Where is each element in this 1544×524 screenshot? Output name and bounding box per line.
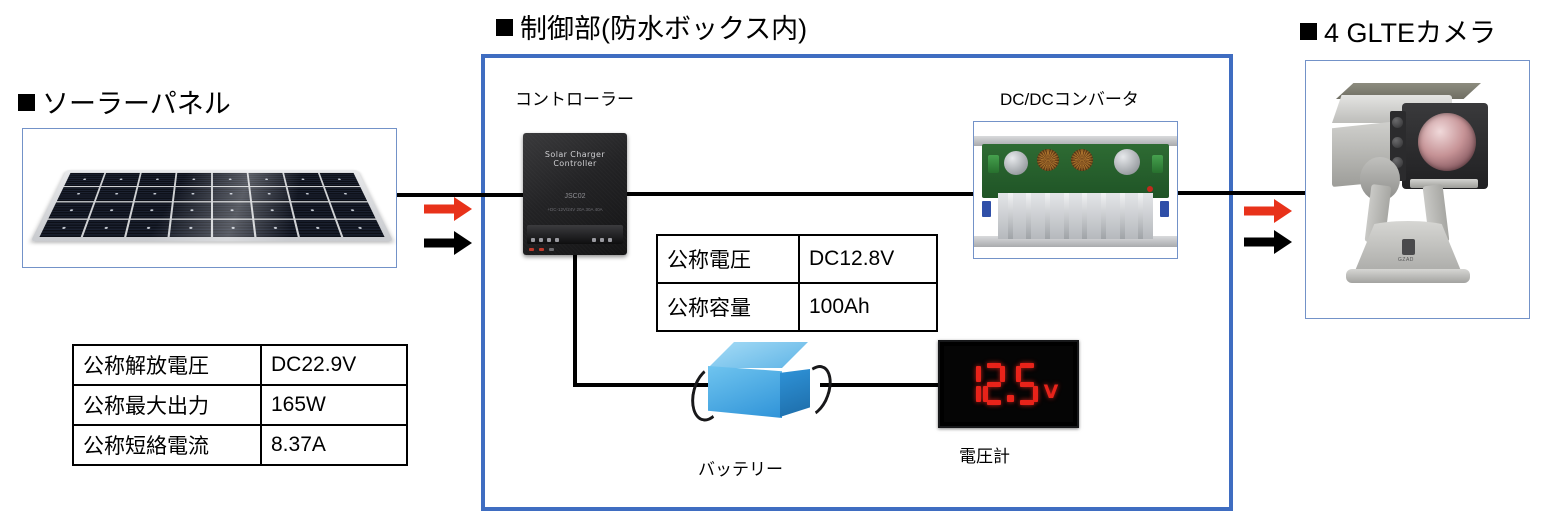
battery-spec-key: 公称容量 xyxy=(657,283,799,331)
battery-spec-key: 公称電圧 xyxy=(657,235,799,283)
controller-terminal-block-left xyxy=(531,238,559,242)
table-row: 公称電圧 DC12.8V xyxy=(657,235,937,283)
battery-spec-value: 100Ah xyxy=(799,283,937,331)
section-heading-control-label: 制御部(防水ボックス内) xyxy=(520,14,807,44)
table-row: 公称最大出力 165W xyxy=(73,385,407,425)
solar-panel-illustration xyxy=(47,137,377,257)
solar-panel-image-frame xyxy=(22,128,397,268)
solar-spec-table: 公称解放電圧 DC22.9V 公称最大出力 165W 公称短絡電流 8.37A xyxy=(72,344,408,466)
diagram-canvas: ソーラーパネル 制御部(防水ボックス内) 4 GLTEカメラ xyxy=(0,0,1544,524)
camera-image-frame: GZAD xyxy=(1305,60,1530,319)
battery-label: バッテリー xyxy=(698,455,783,480)
converter-heatsink xyxy=(998,193,1152,239)
voltmeter-digit xyxy=(983,363,1005,405)
table-row: 公称短絡電流 8.37A xyxy=(73,425,407,465)
solar-spec-value: 165W xyxy=(261,385,407,425)
solar-spec-value: 8.37A xyxy=(261,425,407,465)
bullet-square-icon xyxy=(496,19,513,36)
wire-battery-to-voltmeter xyxy=(820,383,945,387)
section-heading-control: 制御部(防水ボックス内) xyxy=(496,7,807,46)
voltmeter-digit xyxy=(959,363,981,405)
solar-spec-key: 公称最大出力 xyxy=(73,385,261,425)
section-heading-camera-label: 4 GLTEカメラ xyxy=(1324,18,1496,48)
ptz-camera-device: GZAD xyxy=(1306,61,1529,318)
wire-controller-to-converter xyxy=(626,192,986,196)
solar-spec-key: 公称短絡電流 xyxy=(73,425,261,465)
charge-controller-device: Solar Charger Controller JSC02 +DC-12V/2… xyxy=(523,133,627,255)
converter-image-frame xyxy=(973,121,1178,259)
bullet-square-icon xyxy=(1300,23,1317,40)
wire-converter-to-camera xyxy=(1168,191,1316,195)
power-flow-black-arrow-right xyxy=(1244,229,1292,255)
section-heading-camera: 4 GLTEカメラ xyxy=(1300,11,1496,50)
camera-brand-text: GZAD xyxy=(1398,257,1414,263)
power-flow-black-arrow-left xyxy=(424,230,472,256)
wire-controller-down xyxy=(573,252,577,387)
camera-brand-logo-icon xyxy=(1402,239,1415,255)
controller-brand-text: Solar Charger Controller xyxy=(523,150,627,168)
voltmeter-label: 電圧計 xyxy=(959,442,1010,467)
controller-led-row xyxy=(529,248,554,251)
bullet-square-icon xyxy=(18,94,35,111)
table-row: 公称容量 100Ah xyxy=(657,283,937,331)
converter-label: DC/DCコンバータ xyxy=(1000,85,1139,110)
controller-model-text: JSC02 xyxy=(523,193,627,200)
voltmeter-unit-label: V xyxy=(1044,381,1059,403)
table-row: 公称解放電圧 DC22.9V xyxy=(73,345,407,385)
solar-spec-key: 公称解放電圧 xyxy=(73,345,261,385)
section-heading-solar: ソーラーパネル xyxy=(18,82,231,121)
section-heading-solar-label: ソーラーパネル xyxy=(42,89,231,119)
battery-spec-table: 公称電圧 DC12.8V 公称容量 100Ah xyxy=(656,234,938,332)
controller-spec-text: +DC-12V/24V 20A 30A 40A xyxy=(523,207,627,212)
controller-terminal-block-right xyxy=(592,238,612,242)
solar-spec-value: DC22.9V xyxy=(261,345,407,385)
voltmeter-digit xyxy=(1016,363,1038,405)
battery-pack-device xyxy=(690,342,828,430)
controller-label: コントローラー xyxy=(515,85,634,110)
battery-spec-value: DC12.8V xyxy=(799,235,937,283)
power-flow-red-arrow-left xyxy=(424,196,472,222)
dcdc-converter-device xyxy=(974,122,1177,258)
voltmeter-decimal-point xyxy=(1007,395,1014,402)
power-flow-red-arrow-right xyxy=(1244,198,1292,224)
voltmeter-seven-segment-display: V xyxy=(940,363,1077,405)
voltmeter-device: V xyxy=(938,340,1079,428)
